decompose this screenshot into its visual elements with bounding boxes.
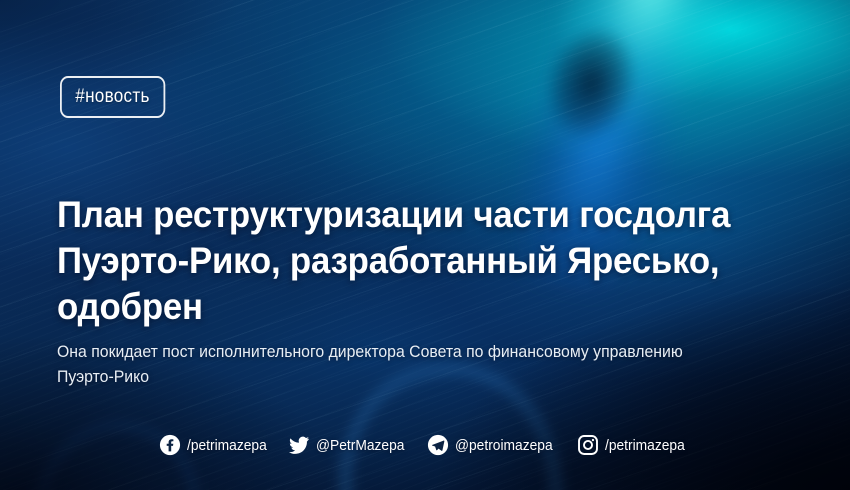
facebook-icon [159,434,181,456]
social-handle: @PetrMazepa [316,437,404,454]
social-links-bar: /petrimazepa @PetrMazepa @petroimazepa [0,434,850,456]
social-link-telegram[interactable]: @petroimazepa [427,434,561,456]
social-handle: /petrimazepa [187,437,267,454]
social-handle: /petrimazepa [605,437,685,454]
instagram-icon [577,434,599,456]
social-handle: @petroimazepa [455,437,553,454]
social-link-instagram[interactable]: /petrimazepa [577,434,692,456]
category-badge[interactable]: #новость [60,76,165,118]
news-card: #новость План реструктуризации части гос… [0,0,850,490]
social-link-twitter[interactable]: @PetrMazepa [288,434,412,456]
subtitle: Она покидает пост исполнительного директ… [57,339,727,389]
twitter-icon [288,434,310,456]
telegram-icon [427,434,449,456]
social-link-facebook[interactable]: /petrimazepa [159,434,274,456]
card-content: #новость План реструктуризации части гос… [0,0,850,490]
headline: План реструктуризации части госдолга Пуэ… [57,192,753,330]
